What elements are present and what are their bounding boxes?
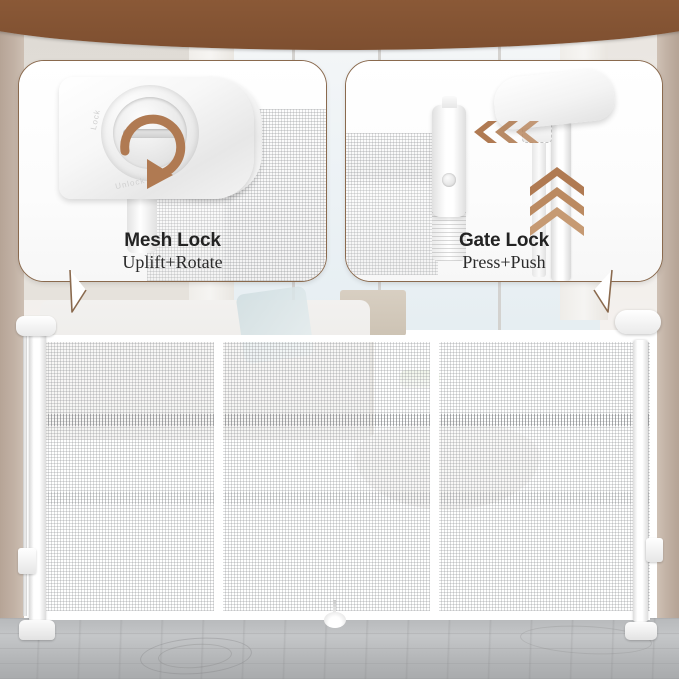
chevron-left-triple-icon [471, 119, 545, 145]
right-post-clip [646, 538, 663, 562]
retractable-gate-mesh [30, 335, 650, 620]
gate-lock-press-button[interactable] [442, 173, 456, 187]
floor-anchor [324, 612, 346, 628]
gate-lock-slider[interactable] [432, 105, 466, 217]
mesh-rib [214, 335, 223, 620]
mesh-strip [346, 133, 438, 185]
left-post-clip [18, 548, 36, 574]
product-infographic: Lock Unlock Mesh Lock Uplift+Rotate [0, 0, 679, 679]
header-banner [0, 0, 679, 50]
left-post-base [19, 620, 55, 640]
right-post [623, 306, 657, 640]
left-post-body [29, 330, 46, 622]
right-post-base [625, 622, 657, 640]
mesh-rib [430, 335, 439, 620]
rotate-arrow-icon [107, 93, 199, 189]
mesh-reinforcement-band [30, 414, 650, 426]
callout-tails [0, 240, 679, 340]
left-post [22, 310, 52, 640]
mesh-reinforcement-band [30, 492, 650, 504]
mesh-fabric [30, 335, 650, 620]
right-post-body [633, 340, 648, 622]
chevron-up-triple-icon [528, 165, 586, 239]
gate-lock-slider-cap [442, 96, 457, 108]
